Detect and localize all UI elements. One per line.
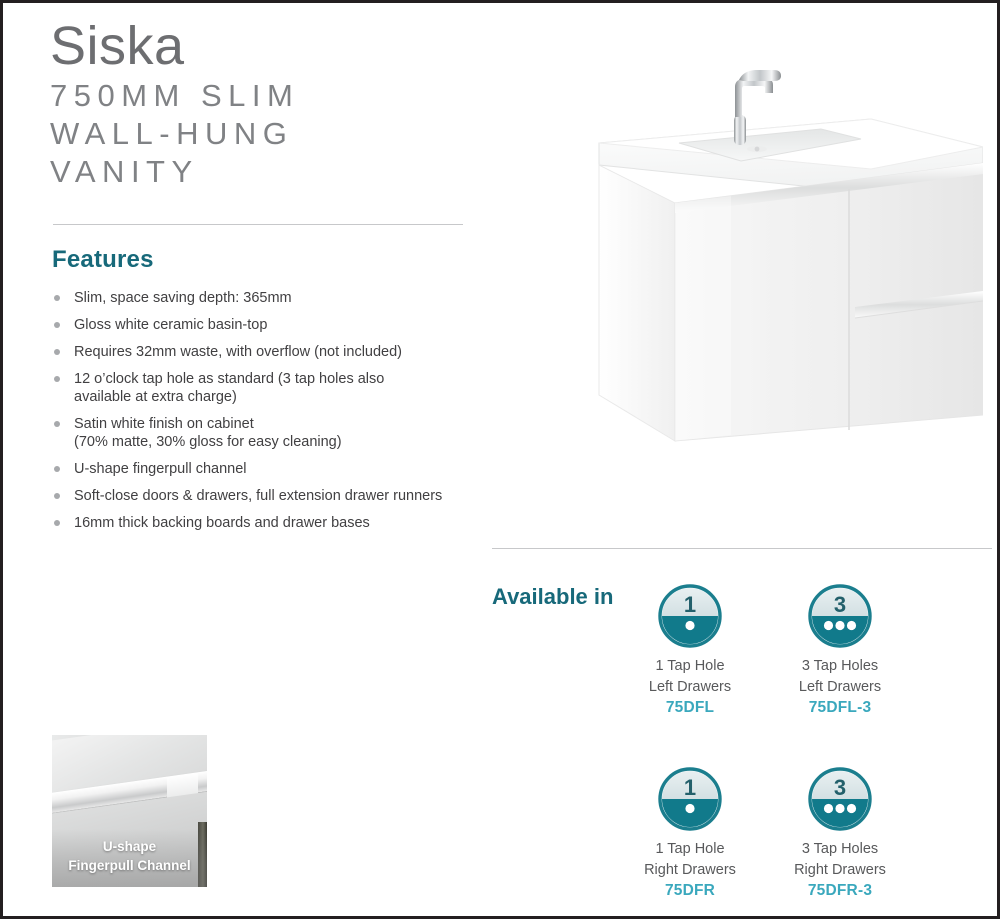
tap-hole-count-label: 1 bbox=[684, 592, 696, 617]
option-code: 75DFL bbox=[615, 699, 765, 717]
tap-hole-1-icon: 1 bbox=[655, 581, 725, 651]
bullet-icon bbox=[54, 376, 60, 382]
option-caption-line-2: Left Drawers bbox=[615, 677, 765, 698]
subtitle-line-2: WALL-HUNG bbox=[50, 115, 480, 153]
list-item: U-shape fingerpull channel bbox=[52, 460, 482, 478]
available-heading: Available in bbox=[492, 584, 613, 610]
list-item: Slim, space saving depth: 365mm bbox=[52, 289, 482, 307]
option-75DFR-3[interactable]: 3 3 Tap Holes Right Drawers 75DFR-3 bbox=[765, 764, 915, 900]
feature-text: U-shape fingerpull channel bbox=[74, 461, 247, 477]
brand-name: Siska bbox=[50, 17, 480, 75]
fingerpull-inset-image: U-shape Fingerpull Channel bbox=[52, 735, 207, 887]
feature-text: 12 o’clock tap hole as standard (3 tap h… bbox=[74, 371, 384, 387]
tap-hole-count-label: 1 bbox=[684, 775, 696, 800]
available-divider bbox=[492, 548, 992, 549]
list-item: Requires 32mm waste, with overflow (not … bbox=[52, 343, 482, 361]
list-item: Soft-close doors & drawers, full extensi… bbox=[52, 487, 482, 505]
list-item: Gloss white ceramic basin-top bbox=[52, 316, 482, 334]
option-caption: 1 Tap Hole Right Drawers bbox=[615, 839, 765, 881]
option-75DFL-3[interactable]: 3 3 Tap Holes Left Drawers 75DFL-3 bbox=[765, 581, 915, 717]
tap-hole-count-label: 3 bbox=[834, 775, 846, 800]
subtitle-line-1: 750MM SLIM bbox=[50, 77, 480, 115]
page-title: Siska 750MM SLIM WALL-HUNG VANITY bbox=[50, 17, 480, 191]
product-image bbox=[571, 43, 983, 463]
option-caption: 3 Tap Holes Left Drawers bbox=[765, 656, 915, 698]
feature-text-cont: (70% matte, 30% gloss for easy cleaning) bbox=[74, 433, 482, 451]
feature-text: Soft-close doors & drawers, full extensi… bbox=[74, 488, 442, 504]
list-item: Satin white finish on cabinet(70% matte,… bbox=[52, 415, 482, 451]
option-code: 75DFR-3 bbox=[765, 882, 915, 900]
feature-text: Requires 32mm waste, with overflow (not … bbox=[74, 344, 402, 360]
list-item: 12 o’clock tap hole as standard (3 tap h… bbox=[52, 370, 482, 406]
option-75DFL[interactable]: 1 1 Tap Hole Left Drawers 75DFL bbox=[615, 581, 765, 717]
feature-text: Gloss white ceramic basin-top bbox=[74, 317, 267, 333]
available-options-grid: 1 1 Tap Hole Left Drawers 75DFL bbox=[615, 581, 925, 900]
fingerpull-caption-line-1: U-shape bbox=[52, 837, 207, 856]
bullet-icon bbox=[54, 466, 60, 472]
row-spacer bbox=[615, 717, 925, 764]
option-code: 75DFL-3 bbox=[765, 699, 915, 717]
available-options-row-left: 1 1 Tap Hole Left Drawers 75DFL bbox=[615, 581, 925, 717]
option-caption-line-1: 1 Tap Hole bbox=[615, 656, 765, 677]
bullet-icon bbox=[54, 520, 60, 526]
option-caption-line-1: 3 Tap Holes bbox=[765, 839, 915, 860]
tap-hole-1-icon: 1 bbox=[655, 764, 725, 834]
available-options-row-right: 1 1 Tap Hole Right Drawers 75DFR bbox=[615, 764, 925, 900]
feature-text: Slim, space saving depth: 365mm bbox=[74, 290, 292, 306]
fingerpull-caption: U-shape Fingerpull Channel bbox=[52, 837, 207, 875]
tap-hole-count-label: 3 bbox=[834, 592, 846, 617]
option-caption-line-1: 1 Tap Hole bbox=[615, 839, 765, 860]
bullet-icon bbox=[54, 295, 60, 301]
list-item: 16mm thick backing boards and drawer bas… bbox=[52, 514, 482, 532]
bullet-icon bbox=[54, 493, 60, 499]
bullet-icon bbox=[54, 322, 60, 328]
page-inner: Siska 750MM SLIM WALL-HUNG VANITY Featur… bbox=[3, 3, 997, 916]
features-heading: Features bbox=[52, 246, 154, 274]
subtitle-line-3: VANITY bbox=[50, 153, 480, 191]
option-caption: 1 Tap Hole Left Drawers bbox=[615, 656, 765, 698]
product-subtitle: 750MM SLIM WALL-HUNG VANITY bbox=[50, 77, 480, 191]
features-list: Slim, space saving depth: 365mm Gloss wh… bbox=[52, 289, 482, 541]
option-caption-line-2: Right Drawers bbox=[615, 860, 765, 881]
feature-text: Satin white finish on cabinet bbox=[74, 416, 254, 432]
spec-sheet-page: Siska 750MM SLIM WALL-HUNG VANITY Featur… bbox=[0, 0, 1000, 919]
tap-hole-3-icon: 3 bbox=[805, 581, 875, 651]
option-caption: 3 Tap Holes Right Drawers bbox=[765, 839, 915, 881]
vanity-illustration bbox=[571, 43, 983, 463]
bullet-icon bbox=[54, 421, 60, 427]
bullet-icon bbox=[54, 349, 60, 355]
option-75DFR[interactable]: 1 1 Tap Hole Right Drawers 75DFR bbox=[615, 764, 765, 900]
feature-text-cont: available at extra charge) bbox=[74, 388, 482, 406]
option-caption-line-2: Left Drawers bbox=[765, 677, 915, 698]
fingerpull-caption-line-2: Fingerpull Channel bbox=[52, 856, 207, 875]
feature-text: 16mm thick backing boards and drawer bas… bbox=[74, 515, 370, 531]
option-caption-line-2: Right Drawers bbox=[765, 860, 915, 881]
option-caption-line-1: 3 Tap Holes bbox=[765, 656, 915, 677]
option-code: 75DFR bbox=[615, 882, 765, 900]
tap-hole-3-icon: 3 bbox=[805, 764, 875, 834]
title-divider bbox=[53, 224, 463, 225]
